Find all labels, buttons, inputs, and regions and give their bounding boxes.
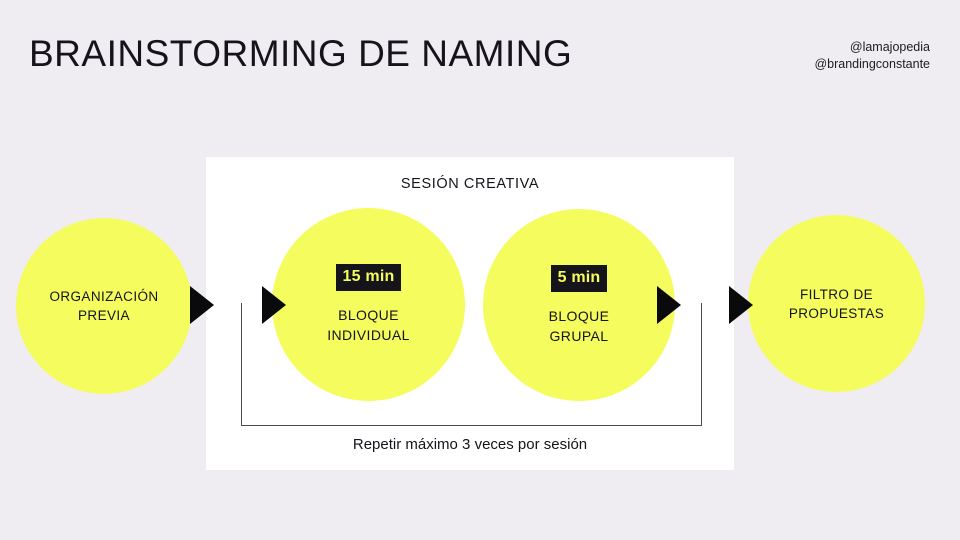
step-label-filtro-de-propuestas: FILTRO DE PROPUESTAS (789, 285, 884, 323)
handle-primary: @lamajopedia (814, 39, 930, 56)
arrow-right-icon (262, 286, 286, 324)
session-panel-title: SESIÓN CREATIVA (206, 176, 734, 192)
social-handles: @lamajopedia @brandingconstante (814, 39, 930, 73)
handle-secondary: @brandingconstante (814, 56, 930, 73)
step-label-organizacion-previa: ORGANIZACIÓN PREVIA (49, 287, 158, 325)
duration-badge-bloque-grupal: 5 min (551, 265, 608, 292)
repeat-loop-caption: Repetir máximo 3 veces por sesión (206, 435, 734, 455)
page-title: BRAINSTORMING DE NAMING (29, 31, 572, 77)
slide-canvas: BRAINSTORMING DE NAMING @lamajopedia @br… (0, 0, 960, 540)
step-circle-organizacion-previa[interactable]: ORGANIZACIÓN PREVIA (16, 218, 192, 394)
step-label-bloque-grupal: BLOQUE GRUPAL (549, 306, 610, 346)
duration-badge-bloque-individual: 15 min (336, 264, 402, 291)
step-circle-filtro-de-propuestas[interactable]: FILTRO DE PROPUESTAS (748, 215, 925, 392)
step-circle-bloque-individual[interactable]: 15 min BLOQUE INDIVIDUAL (272, 208, 465, 401)
arrow-right-icon (190, 286, 214, 324)
step-label-bloque-individual: BLOQUE INDIVIDUAL (327, 305, 410, 345)
step-circle-bloque-grupal[interactable]: 5 min BLOQUE GRUPAL (483, 209, 675, 401)
arrow-right-icon (729, 286, 753, 324)
arrow-right-icon (657, 286, 681, 324)
